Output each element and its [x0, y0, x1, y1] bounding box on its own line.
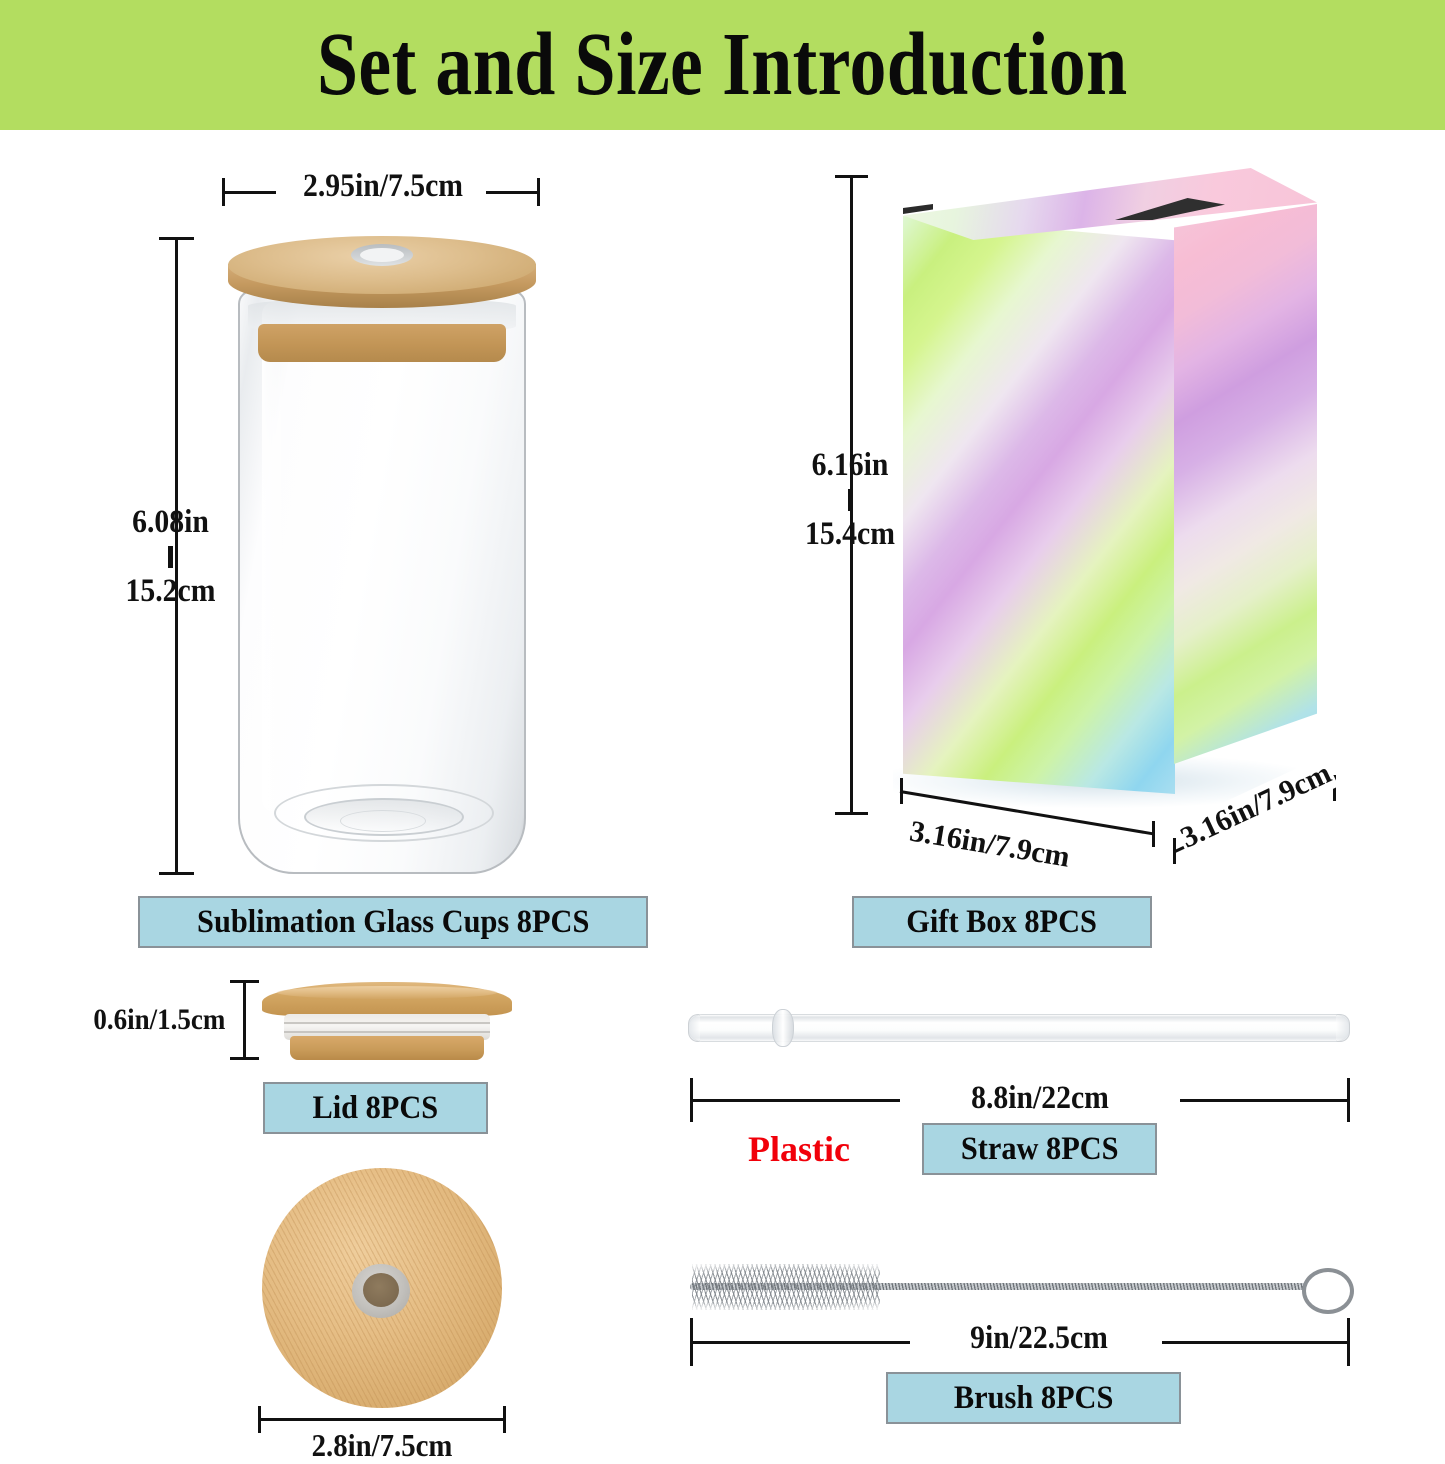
glass-cup-label-box: Sublimation Glass Cups 8PCS	[138, 896, 648, 948]
brush-length-dimension: 9in/22.5cm	[690, 1318, 1350, 1366]
gift-box-label-box: Gift Box 8PCS	[852, 896, 1152, 948]
dimension-cap-bottom	[159, 872, 194, 875]
lid-side-view-image	[262, 978, 512, 1064]
lid-diameter-label: 2.8in/7.5cm	[270, 1427, 493, 1464]
brush-bristles	[692, 1264, 880, 1310]
lid-diameter-dimension-line	[258, 1418, 506, 1421]
dimension-line-right	[486, 191, 538, 194]
brush-image	[690, 1258, 1350, 1314]
straw-label-text: Straw 8PCS	[961, 1131, 1119, 1168]
gift-box-side-face	[1174, 204, 1317, 764]
brush-label-text: Brush 8PCS	[954, 1380, 1113, 1417]
dimension-cap-right	[537, 178, 540, 206]
straw-image	[688, 1008, 1350, 1048]
straw-length-dimension: 8.8in/22cm	[690, 1078, 1350, 1122]
dimension-cap-left	[900, 778, 903, 804]
dimension-cap-right	[1347, 1318, 1350, 1366]
lid-side-wood-top	[262, 982, 512, 1016]
gift-box-image	[885, 168, 1335, 838]
dimension-tick-icon	[168, 546, 173, 568]
glass-cup-image	[222, 228, 542, 876]
dimension-cap-right	[503, 1406, 506, 1433]
lid-label-box: Lid 8PCS	[263, 1082, 488, 1134]
dimension-cap-right	[1152, 821, 1155, 847]
cup-height-inches: 6.08in	[114, 504, 227, 541]
dimension-cap-left	[1173, 838, 1176, 864]
dimension-cap-top	[159, 237, 194, 240]
brush-label-box: Brush 8PCS	[886, 1372, 1181, 1424]
box-depth-dimension: 3.16in/7.9cm	[1175, 778, 1350, 868]
dimension-cap-top	[230, 980, 259, 983]
cup-lid-underflange	[258, 324, 506, 362]
brush-loop-handle	[1302, 1268, 1354, 1314]
straw-ring-bump	[772, 1009, 794, 1047]
gift-box-label-text: Gift Box 8PCS	[907, 904, 1098, 941]
straw-end-right	[1336, 1014, 1350, 1042]
cup-width-label: 2.95in/7.5cm	[290, 168, 475, 205]
dimension-line-left	[224, 191, 276, 194]
dimension-cap-left	[258, 1406, 261, 1433]
glass-cup-label-text: Sublimation Glass Cups 8PCS	[197, 904, 589, 941]
page-title: Set and Size Introduction	[317, 20, 1128, 110]
dimension-cap-top	[835, 175, 868, 178]
gift-box-front-face	[903, 216, 1175, 794]
dimension-line-left	[692, 1099, 900, 1102]
cup-width-dimension: 2.95in/7.5cm	[222, 168, 540, 208]
straw-material-text: Plastic	[748, 1128, 850, 1170]
dimension-tick-icon	[848, 489, 853, 511]
cup-base-ring-inner	[340, 810, 426, 832]
dimension-cap-bottom	[230, 1057, 259, 1060]
dimension-line-right	[1180, 1099, 1348, 1102]
lid-straw-hole	[360, 248, 404, 262]
straw-length-label: 8.8in/22cm	[918, 1080, 1163, 1117]
lid-label-text: Lid 8PCS	[313, 1090, 439, 1127]
cup-height-cm: 15.2cm	[114, 573, 227, 610]
box-width-dimension: 3.16in/7.9cm	[900, 790, 1158, 850]
brush-length-label: 9in/22.5cm	[927, 1320, 1152, 1357]
lid-thickness-dimension-line	[243, 980, 246, 1060]
cup-height-labels: 6.08in 15.2cm	[108, 504, 233, 610]
box-width-label: 3.16in/7.9cm	[905, 814, 1074, 875]
lid-side-wood-bottom	[290, 1036, 484, 1060]
cup-bamboo-lid	[228, 236, 536, 328]
dimension-cap-bottom	[835, 812, 868, 815]
header-banner: Set and Size Introduction	[0, 0, 1445, 130]
lid-straw-hole	[363, 1273, 399, 1307]
dimension-line-right	[1162, 1341, 1348, 1344]
lid-thickness-label: 0.6in/1.5cm	[93, 1003, 225, 1037]
straw-end-left	[688, 1014, 700, 1042]
straw-label-box: Straw 8PCS	[922, 1123, 1157, 1175]
dimension-line-left	[692, 1341, 910, 1344]
dimension-cap-right	[1347, 1078, 1350, 1122]
lid-top-view-image	[262, 1168, 502, 1408]
